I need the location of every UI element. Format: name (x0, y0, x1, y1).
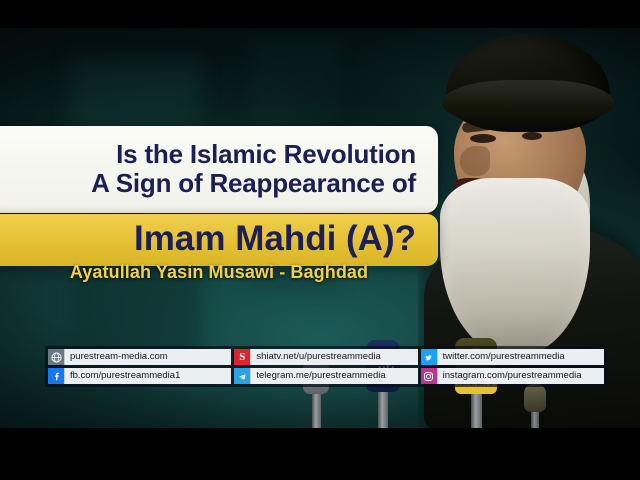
social-column-3: twitter.com/purestreammedia instagram.co… (421, 349, 604, 384)
speaker-eye (470, 134, 496, 143)
social-handle: instagram.com/purestreammedia (437, 368, 604, 384)
social-column-2: S shiatv.net/u/purestreammedia telegram.… (234, 349, 417, 384)
instagram-icon (421, 368, 437, 384)
social-handle: twitter.com/purestreammedia (437, 349, 604, 365)
social-column-1: purestream-media.com fb.com/purestreamme… (48, 349, 231, 384)
social-link-facebook[interactable]: fb.com/purestreammedia1 (48, 368, 231, 384)
mic-head (524, 384, 546, 412)
shiatv-icon: S (234, 349, 250, 365)
title-card: Is the Islamic Revolution A Sign of Reap… (0, 126, 438, 213)
title-line-1: Is the Islamic Revolution (0, 140, 438, 169)
social-handle: purestream-media.com (64, 349, 231, 365)
letterbox-bottom (0, 428, 640, 480)
telegram-icon (234, 368, 250, 384)
speaker-nose (460, 146, 490, 176)
headline-band: Imam Mahdi (A)? (0, 214, 438, 266)
title-line-2: A Sign of Reappearance of (0, 169, 438, 198)
social-links-bar: purestream-media.com fb.com/purestreamme… (45, 346, 607, 387)
speaker-credit: Ayatullah Yasin Musawi - Baghdad (0, 262, 438, 283)
social-link-website[interactable]: purestream-media.com (48, 349, 231, 365)
video-thumbnail: يس AlforatTV Is the Islamic Revolution A… (0, 0, 640, 480)
facebook-icon (48, 368, 64, 384)
twitter-icon (421, 349, 437, 365)
social-link-twitter[interactable]: twitter.com/purestreammedia (421, 349, 604, 365)
speaker-turban-wrap (442, 80, 614, 126)
social-handle: shiatv.net/u/purestreammedia (250, 349, 417, 365)
social-link-telegram[interactable]: telegram.me/purestreammedia (234, 368, 417, 384)
globe-icon (48, 349, 64, 365)
headline-text: Imam Mahdi (A)? (0, 221, 438, 257)
social-link-instagram[interactable]: instagram.com/purestreammedia (421, 368, 604, 384)
social-handle: fb.com/purestreammedia1 (64, 368, 231, 384)
social-handle: telegram.me/purestreammedia (250, 368, 417, 384)
letterbox-top (0, 0, 640, 28)
speaker-eye (522, 132, 542, 140)
social-link-shiatv[interactable]: S shiatv.net/u/purestreammedia (234, 349, 417, 365)
